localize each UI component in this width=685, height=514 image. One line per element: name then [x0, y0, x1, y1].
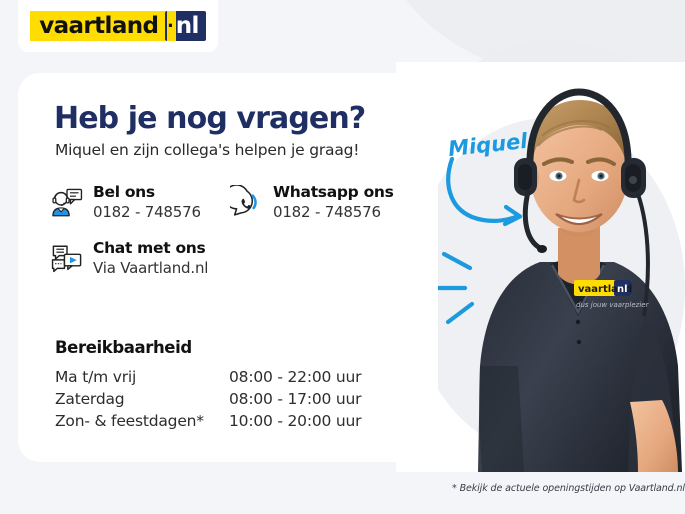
- brand-logo[interactable]: vaartland · nl: [18, 0, 218, 52]
- contact-row: Bel ons 0182 - 748576 Whatsapp on: [50, 183, 420, 223]
- speed-lines-decoration: [438, 244, 518, 339]
- contact-text-whatsapp: Whatsapp ons 0182 - 748576: [273, 183, 394, 223]
- contact-title-whatsapp: Whatsapp ons: [273, 183, 394, 202]
- contact-text-call: Bel ons 0182 - 748576: [93, 183, 201, 223]
- curved-arrow-icon: [432, 155, 542, 238]
- content-card: Heb je nog vragen? Miquel en zijn colleg…: [18, 73, 438, 462]
- headset-person-speech-bubble-icon: [50, 185, 84, 221]
- contact-text-chat: Chat met ons Via Vaartland.nl: [93, 239, 208, 279]
- hours-day: Zaterdag: [55, 388, 229, 410]
- contact-title-chat: Chat met ons: [93, 239, 208, 258]
- contact-option-call[interactable]: Bel ons 0182 - 748576: [50, 183, 230, 223]
- logo-lockup: vaartland · nl: [30, 11, 206, 41]
- logo-navy-block: · nl: [165, 11, 205, 41]
- contact-value-chat: Via Vaartland.nl: [93, 258, 208, 278]
- footnote-text: * Bekijk de actuele openingstijden op Va…: [452, 483, 685, 494]
- table-row: Zon- & feestdagen* 10:00 - 20:00 uur: [55, 410, 361, 432]
- promo-banner: vaartland · nl Heb je nog vragen? Miquel…: [0, 0, 685, 514]
- table-row: Ma t/m vrij 08:00 - 22:00 uur: [55, 366, 361, 388]
- page-subtitle: Miquel en zijn collega's helpen je graag…: [55, 141, 359, 159]
- contact-option-whatsapp[interactable]: Whatsapp ons 0182 - 748576: [230, 183, 394, 223]
- whatsapp-icon: [230, 185, 264, 221]
- hours-heading: Bereikbaarheid: [55, 338, 192, 357]
- hours-time: 10:00 - 20:00 uur: [229, 410, 361, 432]
- contact-option-chat[interactable]: Chat met ons Via Vaartland.nl: [50, 239, 230, 279]
- hours-time: 08:00 - 22:00 uur: [229, 366, 361, 388]
- logo-yellow-block: vaartland: [30, 11, 165, 41]
- contact-value-call: 0182 - 748576: [93, 202, 201, 222]
- contact-methods: Bel ons 0182 - 748576 Whatsapp on: [50, 183, 420, 288]
- logo-primary-text: vaartland: [39, 15, 158, 38]
- hours-day: Ma t/m vrij: [55, 366, 229, 388]
- table-row: Zaterdag 08:00 - 17:00 uur: [55, 388, 361, 410]
- logo-secondary-text: nl: [176, 15, 199, 38]
- chat-bubbles-play-icon: [50, 241, 84, 277]
- opening-hours-table: Ma t/m vrij 08:00 - 22:00 uur Zaterdag 0…: [55, 366, 361, 432]
- svg-text:dus jouw vaarplezier: dus jouw vaarplezier: [576, 301, 650, 309]
- hours-day: Zon- & feestdagen*: [55, 410, 229, 432]
- contact-row: Chat met ons Via Vaartland.nl: [50, 239, 420, 279]
- page-title: Heb je nog vragen?: [54, 101, 365, 136]
- contact-value-whatsapp: 0182 - 748576: [273, 202, 394, 222]
- contact-title-call: Bel ons: [93, 183, 201, 202]
- hours-time: 08:00 - 17:00 uur: [229, 388, 361, 410]
- logo-separator-dot: ·: [167, 11, 175, 41]
- svg-text:nl: nl: [617, 284, 628, 295]
